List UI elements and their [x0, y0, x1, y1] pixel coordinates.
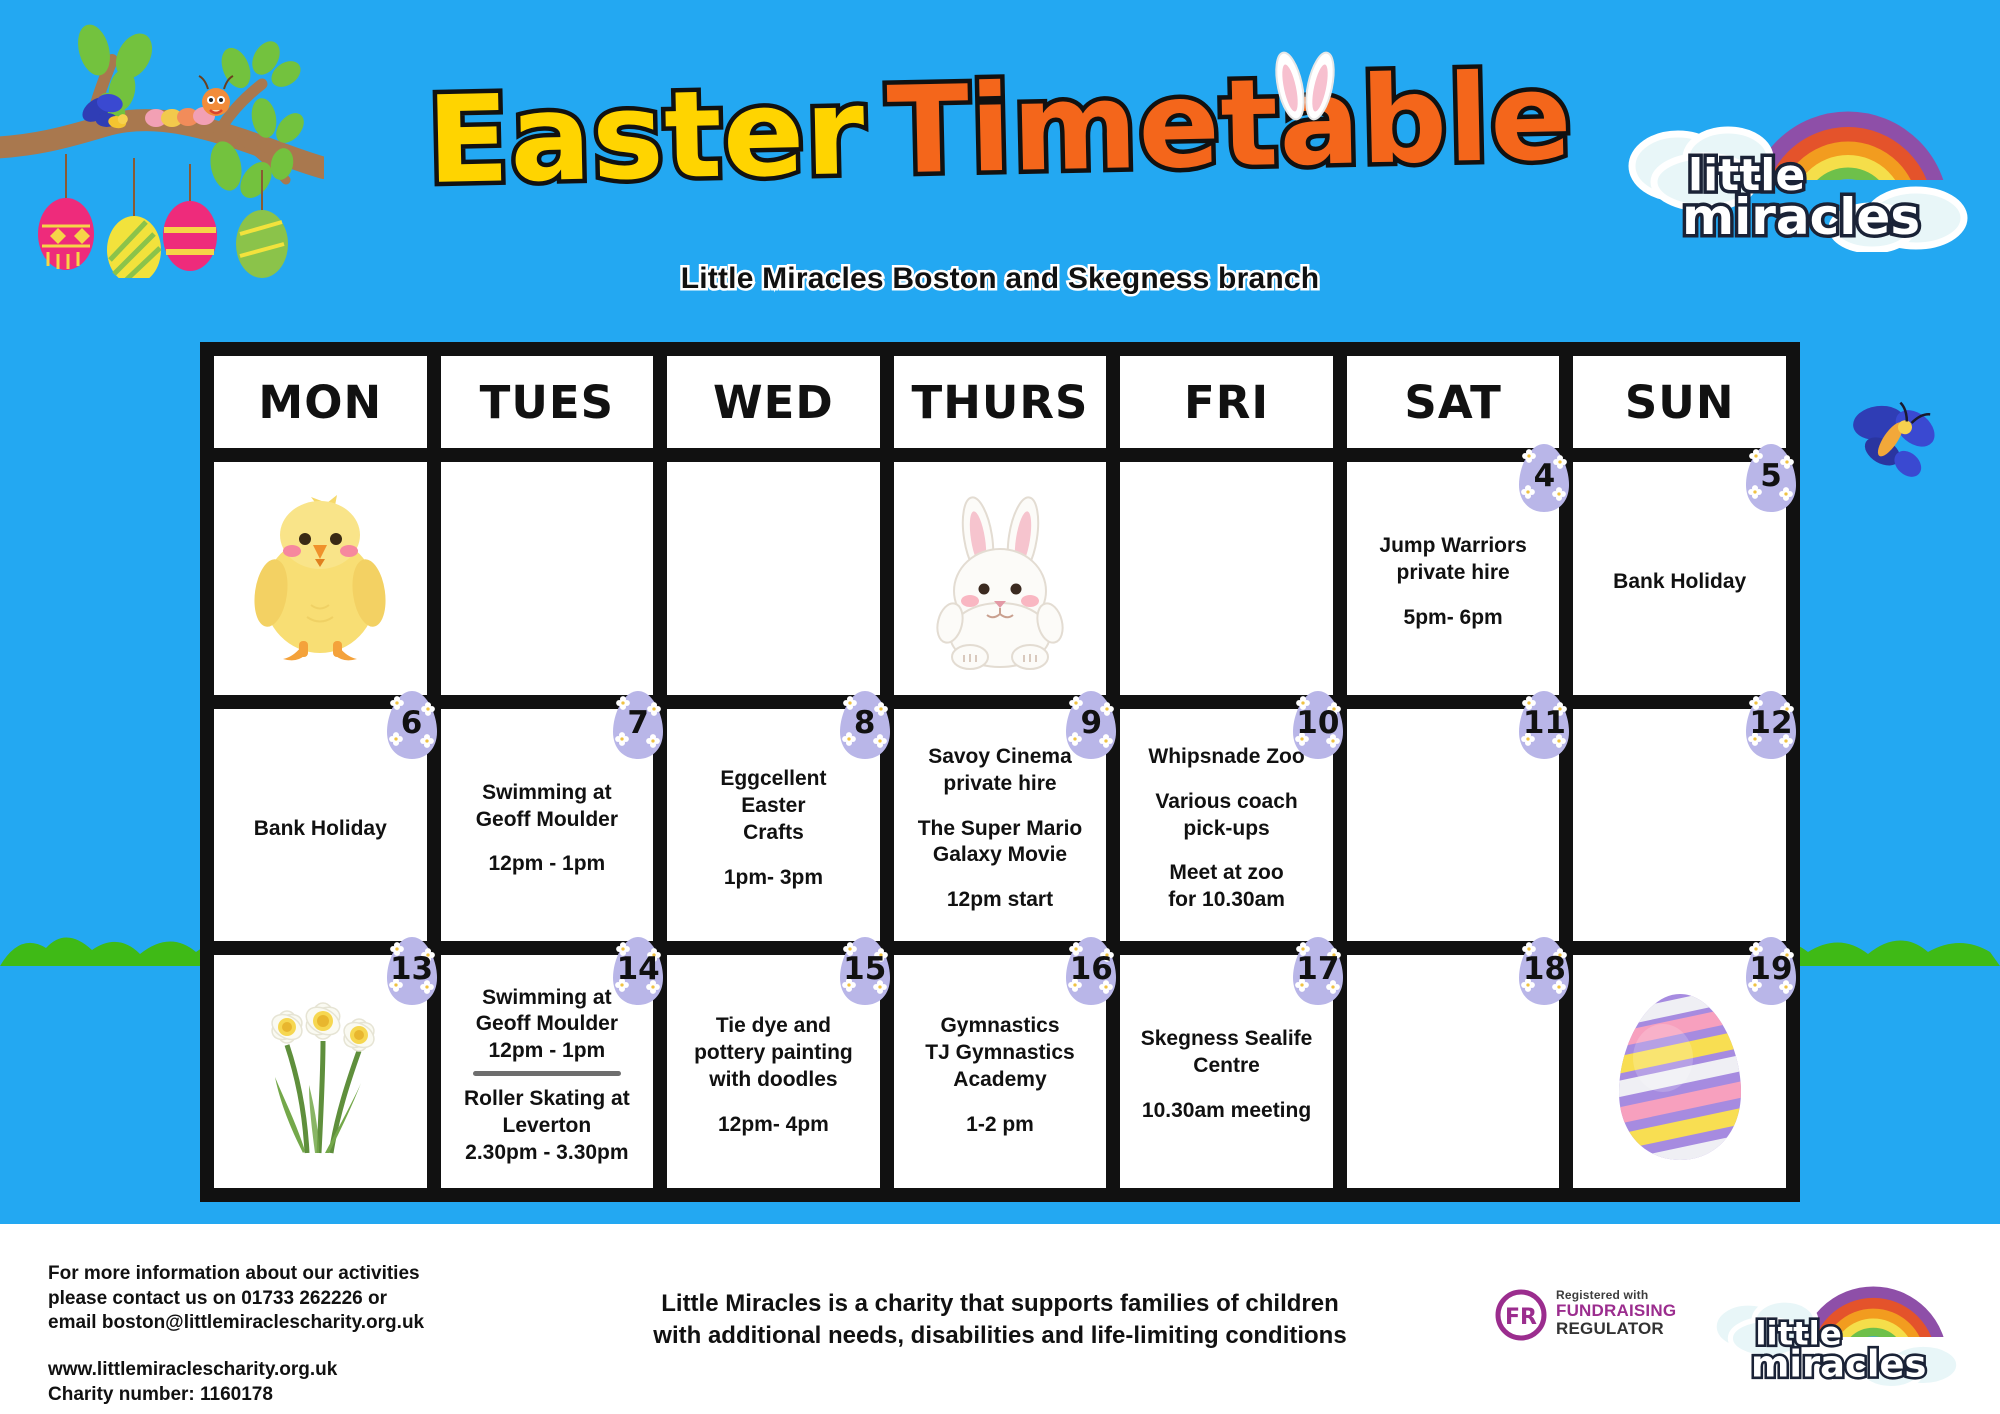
date-badge: 11	[1515, 689, 1573, 761]
bunny-icon	[920, 495, 1080, 670]
date-badge: 19	[1742, 935, 1800, 1007]
day-header-fri: FRI	[1120, 356, 1333, 448]
activity-block: EggcellentEasterCrafts	[720, 766, 826, 847]
day-header-wed: WED	[667, 356, 880, 448]
date-number: 16	[1062, 935, 1120, 1007]
activity-block: Roller Skating atLeverton2.30pm - 3.30pm	[464, 1086, 630, 1167]
date-number: 4	[1515, 442, 1573, 514]
day-cell-10[interactable]: 10 Whipsnade ZooVarious coachpick-upsMee…	[1120, 709, 1333, 942]
date-badge: 6	[383, 689, 441, 761]
activity-block: Swimming atGeoff Moulder	[476, 780, 618, 834]
date-badge: 7	[609, 689, 667, 761]
mission-statement: Little Miracles is a charity that suppor…	[560, 1288, 1440, 1353]
daffodil-flower	[268, 1010, 307, 1045]
day-header-sat: SAT	[1347, 356, 1560, 448]
mission-line-2: with additional needs, disabilities and …	[560, 1320, 1440, 1352]
day-header-sun: SUN	[1573, 356, 1786, 448]
day-header-label: WED	[713, 376, 834, 429]
cell-content: Savoy Cinemaprivate hireThe Super MarioG…	[918, 744, 1083, 914]
day-cell-7[interactable]: 7 Swimming atGeoff Moulder12pm - 1pm	[441, 709, 654, 942]
activity-block: 1pm- 3pm	[720, 865, 826, 892]
day-cell-8[interactable]: 8 EggcellentEasterCrafts1pm- 3pm	[667, 709, 880, 942]
date-number: 14	[609, 935, 667, 1007]
date-number: 8	[836, 689, 894, 761]
activity-block: Swimming atGeoff Moulder12pm - 1pm	[464, 985, 630, 1066]
daffodil-flower	[340, 1018, 379, 1053]
date-badge: 15	[836, 935, 894, 1007]
cell-artwork	[222, 495, 419, 670]
activity-divider	[473, 1071, 621, 1076]
date-badge: 10	[1289, 689, 1347, 761]
activity-block: Whipsnade Zoo	[1148, 744, 1304, 771]
day-cell-12[interactable]: 12	[1573, 709, 1786, 942]
caterpillar-icon	[145, 76, 233, 127]
date-number: 5	[1742, 442, 1800, 514]
easter-branch-decoration	[0, 18, 324, 278]
day-header-thurs: THURS	[894, 356, 1107, 448]
activity-block: The Super MarioGalaxy Movie	[918, 816, 1083, 870]
activity-block: Skegness SealifeCentre	[1141, 1026, 1313, 1080]
day-cell-18[interactable]: 18	[1347, 955, 1560, 1188]
daffodils-icon	[245, 993, 395, 1158]
activity-block: Jump Warriorsprivate hire	[1379, 533, 1526, 587]
contact-line-1: For more information about our activitie…	[48, 1262, 424, 1287]
mission-line-1: Little Miracles is a charity that suppor…	[560, 1288, 1440, 1320]
logo-line2: miracles	[1682, 188, 1920, 246]
charity-number: Charity number: 1160178	[48, 1383, 424, 1408]
activity-block: Savoy Cinemaprivate hire	[918, 744, 1083, 798]
day-cell-16[interactable]: 16 GymnasticsTJ GymnasticsAcademy1-2 pm	[894, 955, 1107, 1188]
day-header-label: MON	[258, 376, 382, 429]
day-cell-0-0[interactable]	[214, 462, 427, 695]
date-number: 12	[1742, 689, 1800, 761]
day-cell-15[interactable]: 15 Tie dye andpottery paintingwith doodl…	[667, 955, 880, 1188]
chick-icon	[245, 495, 395, 670]
day-cell-0-1[interactable]	[441, 462, 654, 695]
little-miracles-logo-footer: little miracles	[1700, 1250, 1970, 1390]
logo-footer-line2: miracles	[1751, 1343, 1926, 1386]
bunny-ears-icon	[1262, 46, 1352, 136]
cell-artwork	[1581, 986, 1778, 1166]
date-number: 7	[609, 689, 667, 761]
day-cell-0-2[interactable]	[667, 462, 880, 695]
activity-block: 1-2 pm	[925, 1112, 1074, 1139]
activity-block: Various coachpick-ups	[1148, 789, 1304, 843]
cell-content: Swimming atGeoff Moulder12pm - 1pm	[476, 780, 618, 879]
activity-block: 12pm start	[918, 887, 1083, 914]
date-badge: 8	[836, 689, 894, 761]
activity-block: 5pm- 6pm	[1379, 605, 1526, 632]
date-badge: 16	[1062, 935, 1120, 1007]
cell-content: Skegness SealifeCentre10.30am meeting	[1141, 1026, 1313, 1125]
activity-block: 12pm- 4pm	[694, 1112, 853, 1139]
date-number: 9	[1062, 689, 1120, 761]
date-badge: 13	[383, 935, 441, 1007]
date-number: 18	[1515, 935, 1573, 1007]
timetable-grid: MON TUES WED THURS FRI SAT SUN	[200, 342, 1800, 1202]
regulator-line-1: Registered with	[1556, 1288, 1676, 1302]
day-cell-6[interactable]: 6 Bank Holiday	[214, 709, 427, 942]
day-cell-4[interactable]: 4 Jump Warriorsprivate hire5pm- 6pm	[1347, 462, 1560, 695]
cell-content: GymnasticsTJ GymnasticsAcademy1-2 pm	[925, 1013, 1074, 1139]
day-cell-17[interactable]: 17 Skegness SealifeCentre10.30am meeting	[1120, 955, 1333, 1188]
date-badge: 9	[1062, 689, 1120, 761]
cell-content: Jump Warriorsprivate hire5pm- 6pm	[1379, 533, 1526, 632]
day-cell-14[interactable]: 14 Swimming atGeoff Moulder12pm - 1pmRol…	[441, 955, 654, 1188]
day-cell-13[interactable]: 13	[214, 955, 427, 1188]
fr-mark-icon: FR	[1494, 1288, 1548, 1342]
butterfly-icon	[1840, 390, 1950, 500]
day-cell-19[interactable]: 19	[1573, 955, 1786, 1188]
cell-content: Swimming atGeoff Moulder12pm - 1pmRoller…	[464, 985, 630, 1167]
day-header-mon: MON	[214, 356, 427, 448]
date-badge: 5	[1742, 442, 1800, 514]
day-header-label: FRI	[1184, 376, 1269, 429]
activity-block: Tie dye andpottery paintingwith doodles	[694, 1013, 853, 1094]
day-header-label: SUN	[1625, 376, 1735, 429]
date-badge: 14	[609, 935, 667, 1007]
website-link[interactable]: www.littlemiraclescharity.org.uk	[48, 1358, 424, 1383]
date-number: 11	[1515, 689, 1573, 761]
date-number: 13	[383, 935, 441, 1007]
fundraising-regulator-badge: FR Registered with FUNDRAISING REGULATOR	[1494, 1288, 1548, 1347]
activity-block: Bank Holiday	[1613, 569, 1746, 596]
date-number: 19	[1742, 935, 1800, 1007]
striped-egg-icon	[1605, 986, 1755, 1166]
regulator-line-2: FUNDRAISING	[1556, 1302, 1676, 1320]
date-number: 15	[836, 935, 894, 1007]
contact-line-3: email boston@littlemiraclescharity.org.u…	[48, 1311, 424, 1336]
date-badge: 17	[1289, 935, 1347, 1007]
fr-mark-text: FR	[1505, 1305, 1537, 1330]
date-badge: 18	[1515, 935, 1573, 1007]
cell-content: Bank Holiday	[254, 816, 387, 843]
date-badge: 12	[1742, 689, 1800, 761]
cell-artwork	[222, 993, 419, 1158]
day-cell-5[interactable]: 5 Bank Holiday	[1573, 462, 1786, 695]
cell-content: EggcellentEasterCrafts1pm- 3pm	[720, 766, 826, 892]
poster-subtitle: Little Miracles Boston and Skegness bran…	[0, 262, 2000, 296]
day-cell-0-4[interactable]	[1120, 462, 1333, 695]
daffodil-flower	[302, 1002, 345, 1041]
cell-content: Bank Holiday	[1613, 569, 1746, 596]
contact-info: For more information about our activitie…	[48, 1262, 424, 1407]
contact-line-2: please contact us on 01733 262226 or	[48, 1287, 424, 1312]
activity-block: Meet at zoofor 10.30am	[1148, 860, 1304, 914]
date-number: 10	[1289, 689, 1347, 761]
activity-block: GymnasticsTJ GymnasticsAcademy	[925, 1013, 1074, 1094]
little-miracles-logo: little miracles	[1616, 62, 1976, 252]
day-header-label: TUES	[480, 376, 614, 429]
cell-content: Tie dye andpottery paintingwith doodles1…	[694, 1013, 853, 1139]
cell-artwork	[902, 495, 1099, 670]
day-header-label: THURS	[912, 376, 1089, 429]
regulator-line-3: REGULATOR	[1556, 1320, 1676, 1338]
day-header-tues: TUES	[441, 356, 654, 448]
date-number: 6	[383, 689, 441, 761]
day-header-label: SAT	[1404, 376, 1501, 429]
activity-block: Bank Holiday	[254, 816, 387, 843]
cell-content: Whipsnade ZooVarious coachpick-upsMeet a…	[1148, 744, 1304, 914]
day-cell-0-3[interactable]	[894, 462, 1107, 695]
hanging-egg	[38, 198, 94, 270]
activity-block: 10.30am meeting	[1141, 1098, 1313, 1125]
hanging-egg	[163, 201, 217, 271]
day-cell-9[interactable]: 9 Savoy Cinemaprivate hireThe Super Mari…	[894, 709, 1107, 942]
activity-block: 12pm - 1pm	[476, 851, 618, 878]
day-cell-11[interactable]: 11	[1347, 709, 1560, 942]
date-number: 17	[1289, 935, 1347, 1007]
date-badge: 4	[1515, 442, 1573, 514]
